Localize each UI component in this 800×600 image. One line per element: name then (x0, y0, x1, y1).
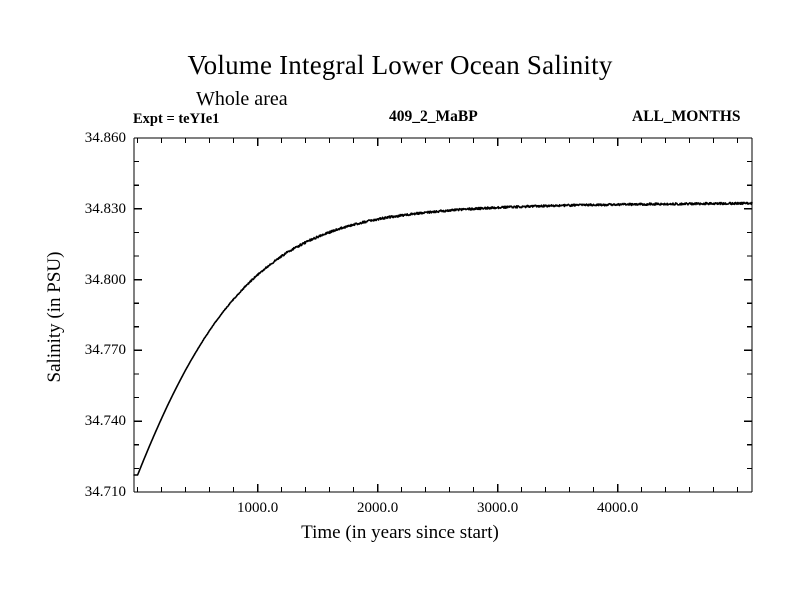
axis-ticks (134, 138, 752, 492)
salinity-series-line (134, 202, 752, 475)
axis-frame (134, 138, 752, 492)
salinity-timeseries-plot: Volume Integral Lower Ocean Salinity Who… (0, 0, 800, 600)
plot-canvas (0, 0, 800, 600)
